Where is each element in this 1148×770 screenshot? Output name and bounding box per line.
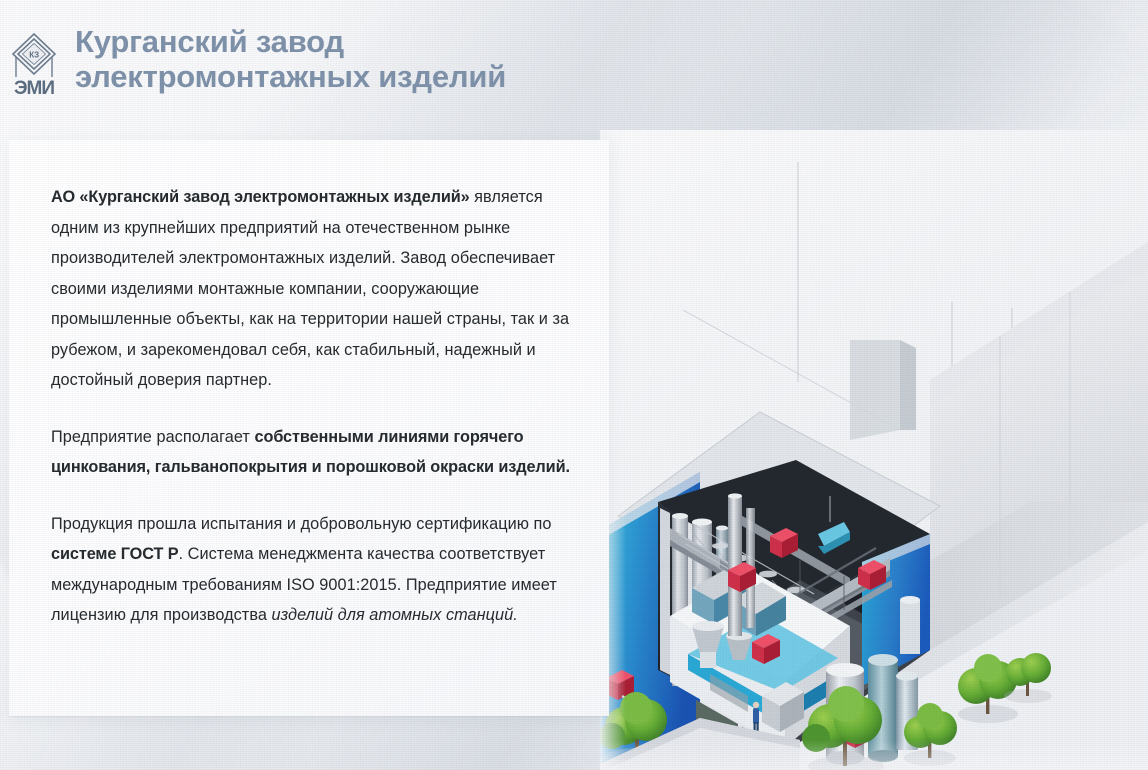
slide-root: КЗ ЭМИ Курганский завод электромонтажных… <box>0 0 1148 770</box>
background-noise-overlay <box>0 0 1148 770</box>
